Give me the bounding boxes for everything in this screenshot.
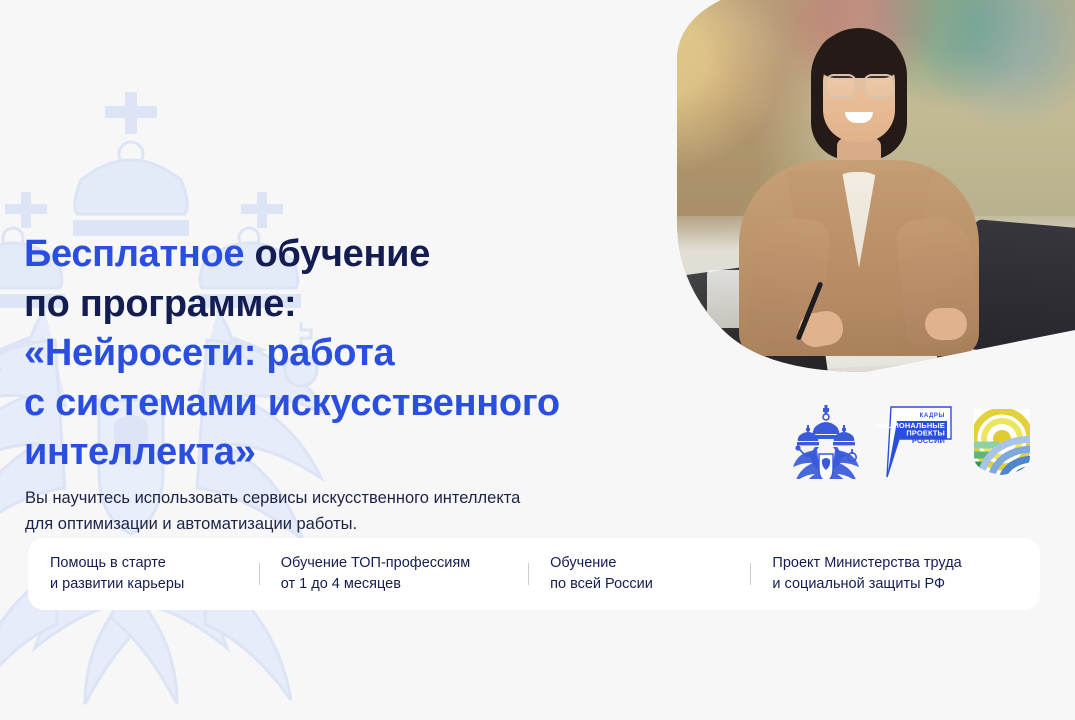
headline-word-training: обучение (244, 233, 430, 275)
feature-item-ministry-project: Проект Министерства труда и социальной з… (750, 553, 1040, 596)
eyeglasses (825, 74, 895, 94)
feature-1-line-2: и развитии карьеры (50, 574, 237, 595)
work-russia-emblem-logo (971, 405, 1033, 479)
feature-4-line-2: и социальной защиты РФ (772, 574, 1018, 595)
headline: Бесплатное обучение по программе: «Нейро… (24, 230, 664, 477)
subtitle-line-1: Вы научитесь использовать сервисы искусс… (25, 485, 645, 512)
feature-3-line-1: Обучение (550, 553, 728, 574)
headline-line-2: по программе: (24, 280, 664, 329)
woman-portrait (733, 12, 983, 342)
national-projects-russia-logo: КАДРЫ НАЦИОНАЛЬНЫЕ ПРОЕКТЫ РОССИИ (877, 405, 953, 479)
subtitle: Вы научитесь использовать сервисы искусс… (25, 485, 645, 538)
feature-2-line-2: от 1 до 4 месяцев (281, 574, 506, 595)
svg-text:РОССИИ: РОССИИ (912, 436, 945, 445)
np-kadry-label: КАДРЫ (920, 413, 945, 419)
feature-bar: Помощь в старте и развитии карьеры Обуче… (28, 538, 1040, 610)
office-background (615, 0, 1075, 372)
headline-line-4: с системами искусственного (24, 379, 664, 428)
headline-line-3: «Нейросети: работа (24, 329, 664, 378)
coat-of-arms-russia-logo (793, 405, 859, 479)
promo-banner: Бесплатное обучение по программе: «Нейро… (0, 0, 1075, 720)
feature-3-line-2: по всей России (550, 574, 728, 595)
feature-4-line-1: Проект Министерства труда (772, 553, 1018, 574)
feature-item-top-professions: Обучение ТОП-профессиям от 1 до 4 месяце… (259, 553, 528, 596)
feature-item-nationwide: Обучение по всей России (528, 553, 750, 596)
logo-row: КАДРЫ НАЦИОНАЛЬНЫЕ ПРОЕКТЫ РОССИИ (793, 405, 1033, 479)
feature-2-line-1: Обучение ТОП-профессиям (281, 553, 506, 574)
subtitle-line-2: для оптимизации и автоматизации работы. (25, 511, 645, 538)
hero-photo (615, 0, 1075, 372)
headline-line-5: интеллекта» (24, 428, 664, 477)
headline-word-free: Бесплатное (24, 233, 244, 275)
feature-item-career-start: Помощь в старте и развитии карьеры (28, 553, 259, 596)
headline-line-1: Бесплатное обучение (24, 230, 664, 279)
feature-1-line-1: Помощь в старте (50, 553, 237, 574)
